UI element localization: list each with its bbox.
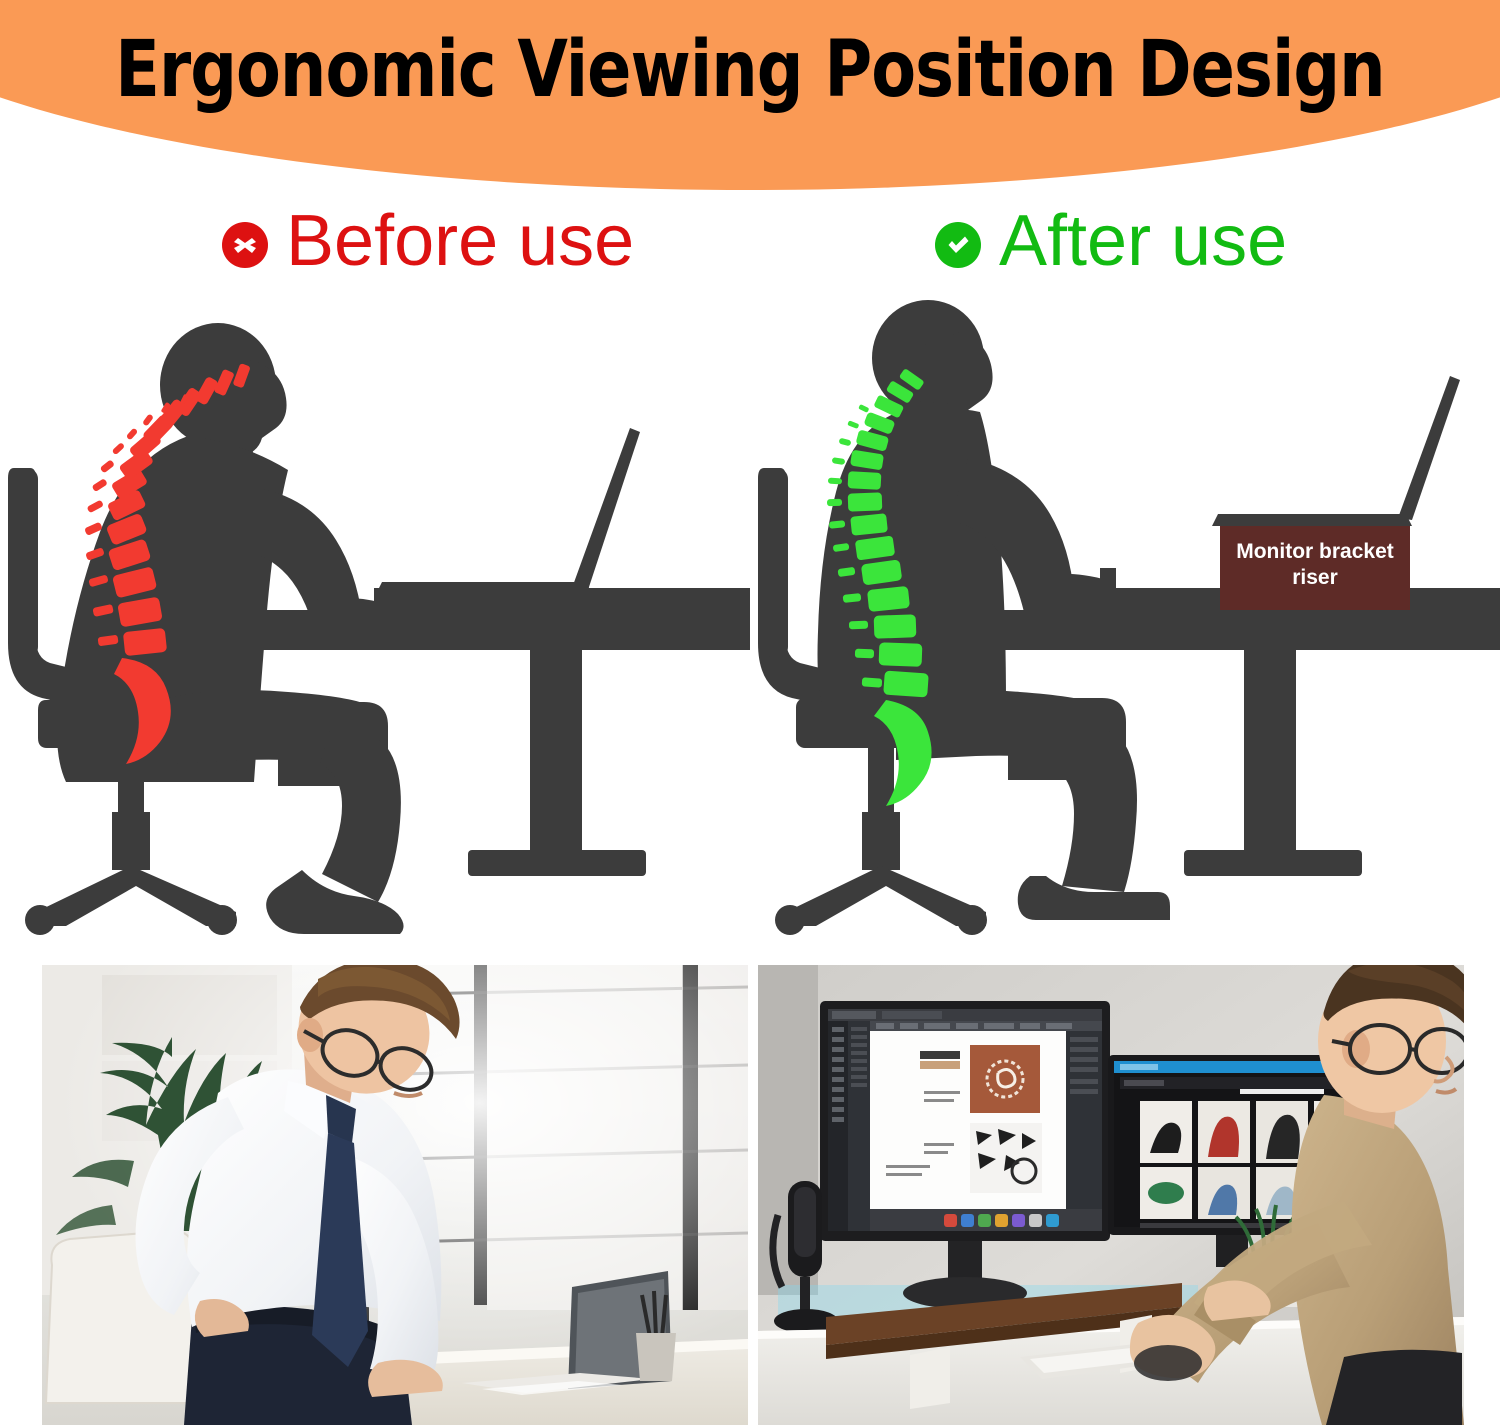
- illustration-after-use: Monitor bracket riser: [750, 300, 1500, 940]
- photo-before-use: [42, 965, 748, 1425]
- riser-label-line2: riser: [1292, 566, 1338, 589]
- circle-x-icon: [222, 222, 268, 268]
- riser-label-line1: Monitor bracket: [1236, 540, 1394, 563]
- illustration-area: Monitor bracket riser: [0, 300, 1500, 940]
- header-banner: Ergonomic Viewing Position Design: [0, 0, 1500, 200]
- page-title: Ergonomic Viewing Position Design: [53, 30, 1448, 112]
- laptop-after: [1212, 376, 1460, 526]
- illustration-before-use: [0, 300, 750, 940]
- photo-row: [0, 965, 1500, 1427]
- circle-check-icon: [935, 222, 981, 268]
- laptop-before: [376, 428, 640, 594]
- label-after-use: After use: [935, 205, 1287, 277]
- photo-after-use: [758, 965, 1464, 1425]
- label-before-use: Before use: [222, 205, 634, 277]
- label-after-use-text: After use: [999, 205, 1287, 277]
- after-silhouette-group: Monitor bracket riser: [758, 300, 1500, 935]
- label-before-use-text: Before use: [286, 205, 634, 277]
- before-silhouette-group: [8, 323, 750, 935]
